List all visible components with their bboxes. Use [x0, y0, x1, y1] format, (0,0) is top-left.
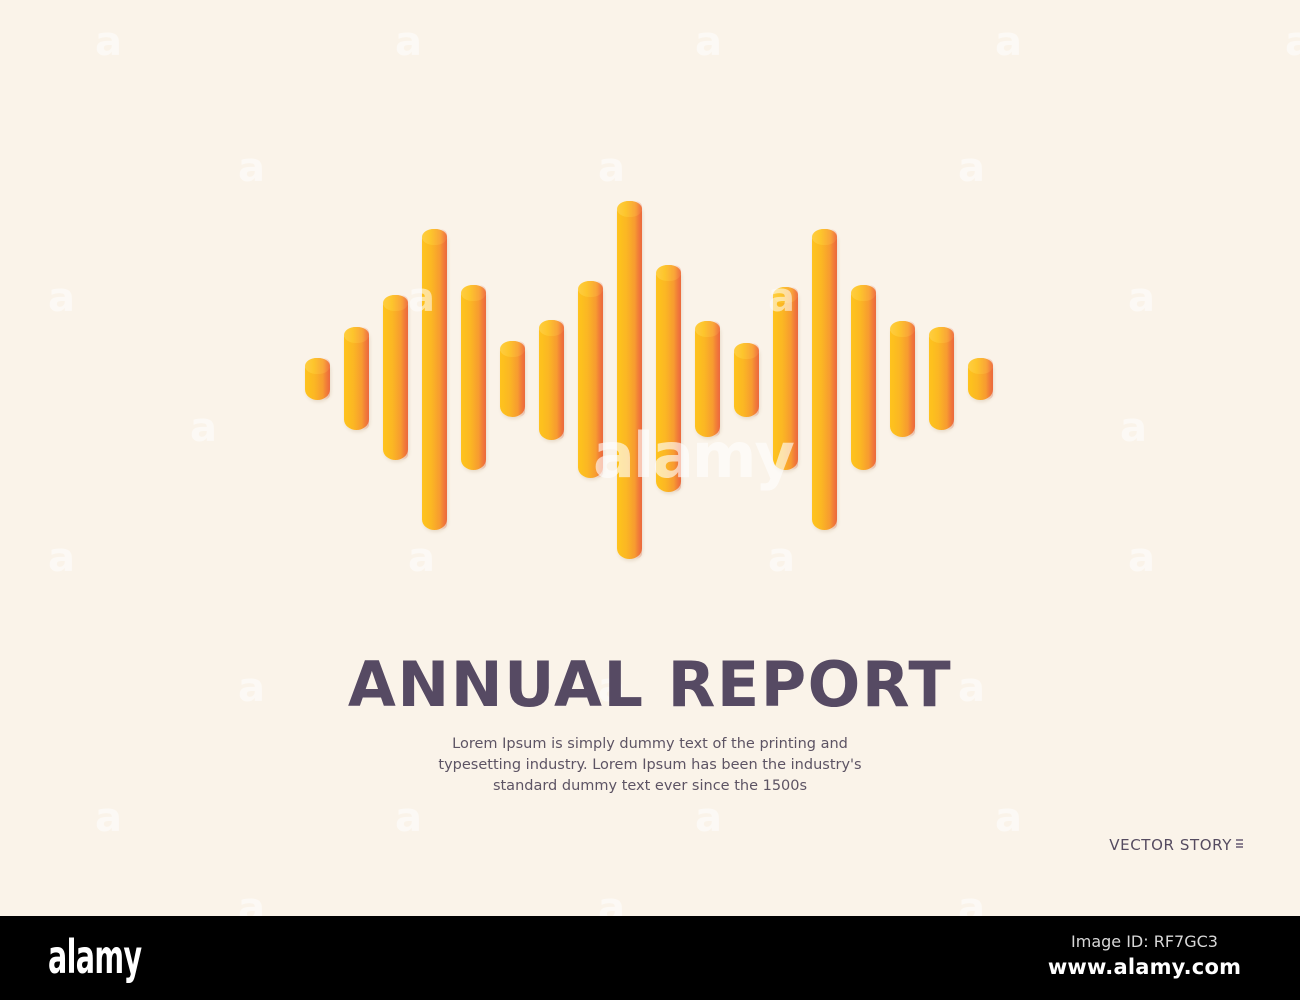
- alamy-footer-bar: alamy Image ID: RF7GC3 www.alamy.com: [0, 916, 1300, 1000]
- watermark-letter: a: [995, 798, 1022, 838]
- waveform-bar: [656, 265, 681, 492]
- page-title: ANNUAL REPORT: [0, 648, 1300, 721]
- waveform-bar: [968, 358, 993, 400]
- waveform-bar: [773, 287, 798, 470]
- watermark-letter: a: [598, 888, 625, 916]
- waveform-bar: [695, 321, 720, 437]
- stacked-bars-icon: [1236, 836, 1243, 848]
- brand-name: VECTOR STORY: [1109, 836, 1232, 854]
- waveform-bar: [890, 321, 915, 437]
- waveform-bar: [305, 358, 330, 400]
- waveform-bar: [929, 327, 954, 430]
- waveform-bar: [617, 201, 642, 559]
- watermark-letter: a: [238, 888, 265, 916]
- footer-meta: Image ID: RF7GC3 www.alamy.com: [1027, 931, 1262, 981]
- sound-wave-graphic: [0, 0, 1300, 620]
- waveform-bar: [500, 341, 525, 417]
- waveform-bar: [461, 285, 486, 470]
- watermark-letter: a: [95, 798, 122, 838]
- waveform-bar: [422, 229, 447, 530]
- waveform-bar: [539, 320, 564, 440]
- alamy-url: www.alamy.com: [1027, 953, 1262, 981]
- subtitle-line-3: standard dummy text ever since the 1500s: [0, 776, 1300, 797]
- watermark-letter: a: [395, 798, 422, 838]
- alamy-logo: alamy: [48, 934, 141, 980]
- waveform-bar: [812, 229, 837, 530]
- waveform-bar: [851, 285, 876, 470]
- image-id-label: Image ID: RF7GC3: [1027, 931, 1262, 953]
- subtitle-line-2: typesetting industry. Lorem Ipsum has be…: [0, 755, 1300, 776]
- subtitle-line-1: Lorem Ipsum is simply dummy text of the …: [0, 734, 1300, 755]
- brand-lockup: VECTOR STORY: [1109, 836, 1243, 854]
- watermark-letter: a: [695, 798, 722, 838]
- poster-artboard: aaaaaaaaaaaaaaaaaaaaaaaaaaaaaaalamy ANNU…: [0, 0, 1300, 916]
- waveform-bar: [578, 281, 603, 478]
- waveform-bar: [383, 295, 408, 460]
- waveform-bar: [734, 343, 759, 417]
- watermark-letter: a: [958, 888, 985, 916]
- subtitle-text: Lorem Ipsum is simply dummy text of the …: [0, 734, 1300, 797]
- poster-screenshot: aaaaaaaaaaaaaaaaaaaaaaaaaaaaaaalamy ANNU…: [0, 0, 1300, 1000]
- waveform-bar: [344, 327, 369, 430]
